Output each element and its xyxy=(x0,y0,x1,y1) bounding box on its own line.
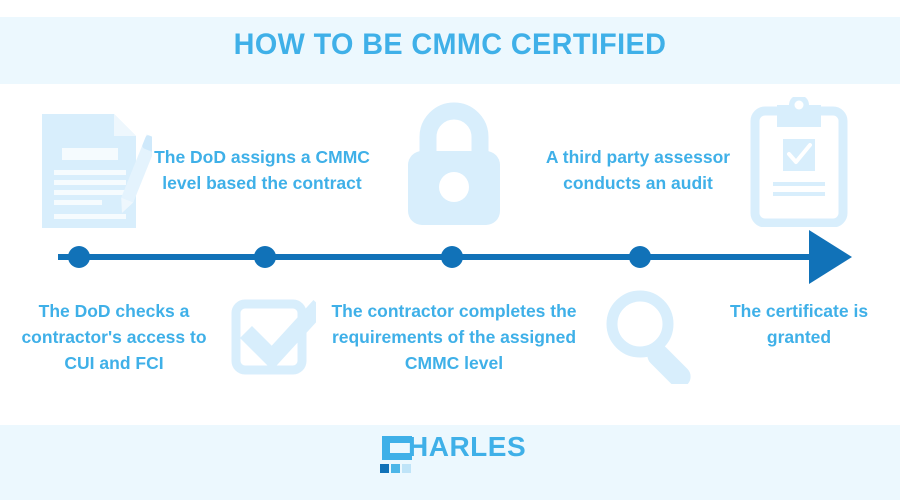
page-title: HOW TO BE CMMC CERTIFIED xyxy=(18,28,882,62)
step-text-2: The DoD assigns a CMMC level based the c… xyxy=(152,144,372,196)
logo-wordmark: HARLES xyxy=(408,431,526,463)
step-text-5: The certificate is granted xyxy=(726,298,872,350)
timeline-line xyxy=(58,254,815,260)
timeline xyxy=(0,230,900,286)
lock-icon xyxy=(404,97,504,234)
timeline-dot-3[interactable] xyxy=(441,246,463,268)
infographic-root: HOW TO BE CMMC CERTIFIED xyxy=(0,0,900,500)
timeline-dot-1[interactable] xyxy=(68,246,90,268)
clipboard-check-icon xyxy=(750,97,848,232)
document-pen-icon xyxy=(38,112,152,235)
step-text-3: The contractor completes the requirement… xyxy=(320,298,588,376)
charles-logo: HARLES xyxy=(378,430,528,480)
step-text-4: A third party assessor conducts an audit xyxy=(530,144,746,196)
magnifier-icon xyxy=(602,288,706,389)
timeline-dot-4[interactable] xyxy=(629,246,651,268)
step-text-1: The DoD checks a contractor's access to … xyxy=(8,298,220,376)
timeline-arrow-icon xyxy=(809,230,852,284)
checkbox-check-icon xyxy=(230,294,316,385)
timeline-dot-2[interactable] xyxy=(254,246,276,268)
